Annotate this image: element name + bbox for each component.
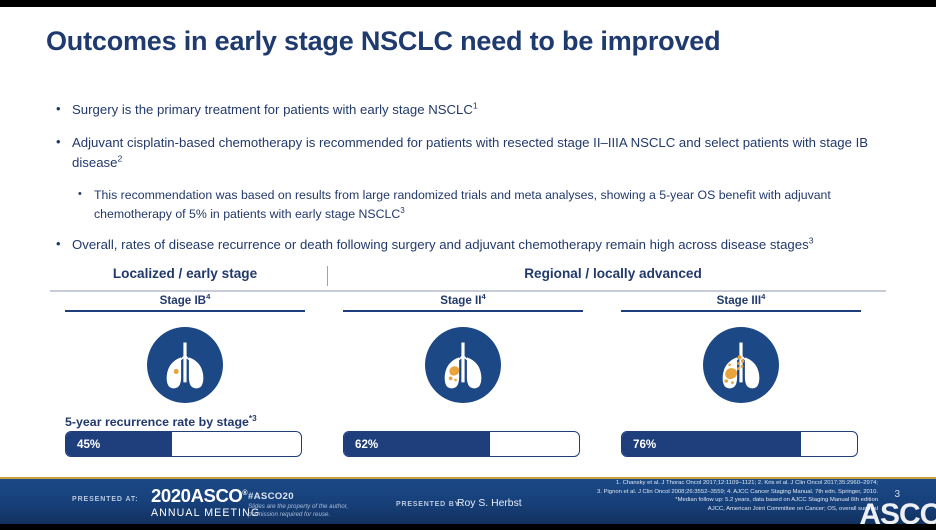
bullet-text: Adjuvant cisplatin-based chemotherapy is… bbox=[72, 135, 868, 170]
reference-line: 3. Pignon et al. J Clin Oncol 2008;26:35… bbox=[528, 488, 878, 497]
reference-line: AJCC, American Joint Committee on Cancer… bbox=[528, 505, 878, 514]
recurrence-bar-stage-ii: 62% bbox=[343, 431, 580, 457]
stage-label: Stage III4 bbox=[621, 294, 861, 310]
asco-logo-registered: ® bbox=[242, 490, 247, 497]
group-header-row: Localized / early stage Regional / local… bbox=[50, 266, 886, 288]
reference-line: 1. Chansky et al. J Thorac Oncol 2017;12… bbox=[528, 479, 878, 488]
stage-underline bbox=[621, 310, 861, 312]
stage-label-reference: 4 bbox=[761, 292, 765, 301]
stage-label-reference: 4 bbox=[482, 292, 486, 301]
stage-column-ii: Stage II4 bbox=[343, 294, 583, 404]
bar-fill: 45% bbox=[66, 432, 172, 456]
bullet-text: Surgery is the primary treatment for pat… bbox=[72, 102, 473, 117]
stage-underline bbox=[343, 310, 583, 312]
group-header-regional: Regional / locally advanced bbox=[340, 266, 886, 281]
lung-icon-local-spread-wrap bbox=[343, 326, 583, 404]
asco-logo-subtitle: ANNUAL MEETING bbox=[151, 508, 260, 519]
bar-value-label: 62% bbox=[344, 438, 378, 451]
recurrence-bar-stage-ib: 45% bbox=[65, 431, 302, 457]
stage-label-text: Stage IB bbox=[160, 294, 206, 307]
stage-label-text: Stage III bbox=[717, 294, 761, 307]
presented-by-label: PRESENTED BY: bbox=[396, 501, 463, 508]
reference-line: *Median follow up: 5.2 years, data based… bbox=[528, 496, 878, 505]
asco-logo: 2020ASCO® ANNUAL MEETING bbox=[151, 487, 260, 518]
recurrence-bar-stage-iii: 76% bbox=[621, 431, 858, 457]
asco-logo-name: ASCO bbox=[191, 485, 243, 506]
bottom-black-bar bbox=[0, 524, 936, 530]
stage-label: Stage II4 bbox=[343, 294, 583, 310]
presented-at-label: PRESENTED AT: bbox=[72, 496, 139, 503]
reference-list: 1. Chansky et al. J Thorac Oncol 2017;12… bbox=[528, 479, 878, 514]
lung-icon-nodal-spread-wrap bbox=[621, 326, 861, 404]
bullet-item-sub: This recommendation was based on results… bbox=[76, 186, 902, 224]
bar-chart-label-reference: *3 bbox=[249, 414, 257, 423]
bullet-reference: 3 bbox=[809, 236, 814, 246]
lung-icon-local-spread bbox=[424, 326, 502, 404]
bar-value-label: 45% bbox=[66, 438, 100, 451]
bullet-item: Adjuvant cisplatin-based chemotherapy is… bbox=[52, 133, 902, 173]
bullet-item: Overall, rates of disease recurrence or … bbox=[52, 235, 902, 255]
bullet-reference: 3 bbox=[400, 206, 405, 215]
slide: Outcomes in early stage NSCLC need to be… bbox=[0, 0, 936, 530]
lung-icon-single-nodule-wrap bbox=[65, 326, 305, 404]
asco-logo-year: 2020 bbox=[151, 485, 191, 506]
bar-chart-label: 5-year recurrence rate by stage*3 bbox=[65, 415, 257, 429]
presenter-name: Roy S. Herbst bbox=[457, 498, 522, 509]
rights-notice: Slides are the property of the author, p… bbox=[248, 503, 378, 520]
group-header-localized: Localized / early stage bbox=[50, 266, 320, 281]
stage-column-iii: Stage III4 bbox=[621, 294, 861, 404]
bullet-reference: 1 bbox=[473, 101, 478, 111]
stage-underline bbox=[65, 310, 305, 312]
group-header-divider bbox=[327, 266, 328, 286]
stage-label: Stage IB4 bbox=[65, 294, 305, 310]
asco-logo-line1: 2020ASCO® bbox=[151, 487, 260, 506]
bar-value-label: 76% bbox=[622, 438, 656, 451]
bullet-item: Surgery is the primary treatment for pat… bbox=[52, 100, 902, 120]
bullet-list: Surgery is the primary treatment for pat… bbox=[52, 100, 902, 268]
lung-icon-single-nodule bbox=[146, 326, 224, 404]
stage-label-text: Stage II bbox=[440, 294, 481, 307]
bar-fill: 76% bbox=[622, 432, 801, 456]
lung-icon-nodal-spread bbox=[702, 326, 780, 404]
bullet-reference: 2 bbox=[117, 154, 122, 164]
bar-chart-label-text: 5-year recurrence rate by stage bbox=[65, 415, 249, 429]
bullet-text: This recommendation was based on results… bbox=[94, 188, 831, 221]
bullet-text: Overall, rates of disease recurrence or … bbox=[72, 237, 809, 252]
stage-label-reference: 4 bbox=[206, 292, 210, 301]
conference-hashtag: #ASCO20 bbox=[248, 491, 294, 502]
top-black-bar bbox=[0, 0, 936, 7]
page-title: Outcomes in early stage NSCLC need to be… bbox=[46, 26, 886, 57]
stage-column-ib: Stage IB4 bbox=[65, 294, 305, 404]
bar-fill: 62% bbox=[344, 432, 490, 456]
slide-footer: PRESENTED AT: 2020ASCO® ANNUAL MEETING #… bbox=[0, 477, 936, 524]
